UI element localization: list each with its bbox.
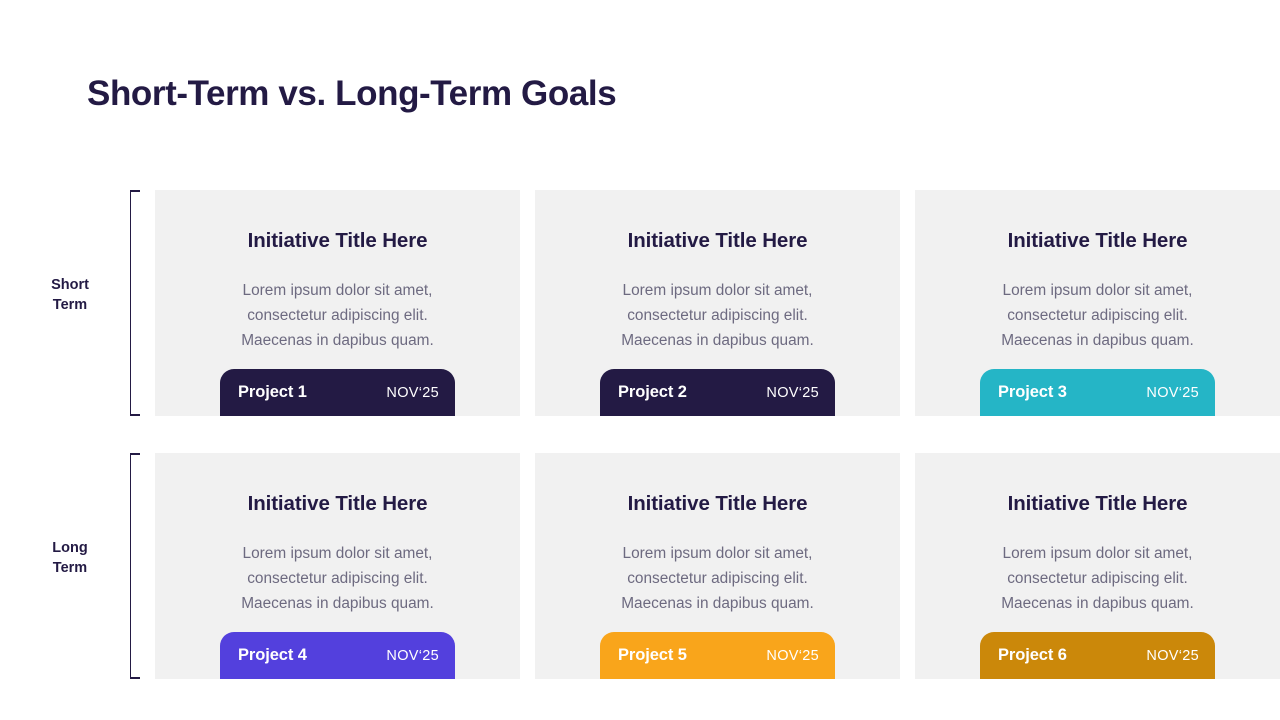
card-title: Initiative Title Here [535, 492, 900, 516]
card-body-line-3: Maecenas in dapibus quam. [181, 592, 494, 617]
row-label-short-term: Short Term [20, 275, 120, 315]
row-label-line-2: Term [20, 558, 120, 578]
card-group-long-term: Initiative Title Here Lorem ipsum dolor … [155, 453, 1280, 679]
card-body-line-3: Maecenas in dapibus quam. [561, 329, 874, 354]
row-label-line-1: Short [20, 275, 120, 295]
project-badge[interactable]: Project 4 NOV‘25 [220, 632, 455, 679]
card-body-line-3: Maecenas in dapibus quam. [561, 592, 874, 617]
project-badge[interactable]: Project 1 NOV‘25 [220, 369, 455, 416]
initiative-card[interactable]: Initiative Title Here Lorem ipsum dolor … [915, 453, 1280, 679]
card-body-line-1: Lorem ipsum dolor sit amet, [941, 279, 1254, 304]
project-badge-name: Project 5 [618, 646, 687, 665]
project-badge-date: NOV‘25 [386, 385, 439, 401]
card-title: Initiative Title Here [915, 492, 1280, 516]
card-body: Lorem ipsum dolor sit amet, consectetur … [941, 279, 1254, 353]
initiative-card[interactable]: Initiative Title Here Lorem ipsum dolor … [535, 453, 900, 679]
project-badge[interactable]: Project 2 NOV‘25 [600, 369, 835, 416]
card-body-line-2: consectetur adipiscing elit. [941, 567, 1254, 592]
project-badge-date: NOV‘25 [766, 385, 819, 401]
project-badge[interactable]: Project 3 NOV‘25 [980, 369, 1215, 416]
row-bracket-short-term [130, 190, 140, 416]
project-badge-name: Project 2 [618, 383, 687, 402]
card-body-line-1: Lorem ipsum dolor sit amet, [561, 279, 874, 304]
card-body-line-2: consectetur adipiscing elit. [181, 304, 494, 329]
card-group-short-term: Initiative Title Here Lorem ipsum dolor … [155, 190, 1280, 416]
card-body-line-1: Lorem ipsum dolor sit amet, [561, 542, 874, 567]
project-badge-name: Project 6 [998, 646, 1067, 665]
project-badge-date: NOV‘25 [1146, 648, 1199, 664]
row-bracket-long-term [130, 453, 140, 679]
initiative-card[interactable]: Initiative Title Here Lorem ipsum dolor … [915, 190, 1280, 416]
goal-row-short-term: Short Term Initiative Title Here Lorem i… [0, 190, 1280, 416]
initiative-card[interactable]: Initiative Title Here Lorem ipsum dolor … [535, 190, 900, 416]
row-label-line-2: Term [20, 295, 120, 315]
project-badge-name: Project 1 [238, 383, 307, 402]
card-body-line-2: consectetur adipiscing elit. [941, 304, 1254, 329]
card-title: Initiative Title Here [915, 229, 1280, 253]
card-body-line-3: Maecenas in dapibus quam. [941, 329, 1254, 354]
card-body: Lorem ipsum dolor sit amet, consectetur … [181, 542, 494, 616]
card-body-line-1: Lorem ipsum dolor sit amet, [181, 542, 494, 567]
card-body-line-2: consectetur adipiscing elit. [561, 304, 874, 329]
goal-row-long-term: Long Term Initiative Title Here Lorem ip… [0, 453, 1280, 679]
row-label-line-1: Long [20, 538, 120, 558]
project-badge-date: NOV‘25 [386, 648, 439, 664]
card-body: Lorem ipsum dolor sit amet, consectetur … [561, 279, 874, 353]
project-badge-date: NOV‘25 [766, 648, 819, 664]
card-body-line-2: consectetur adipiscing elit. [561, 567, 874, 592]
card-body-line-2: consectetur adipiscing elit. [181, 567, 494, 592]
project-badge[interactable]: Project 5 NOV‘25 [600, 632, 835, 679]
card-title: Initiative Title Here [155, 492, 520, 516]
slide-canvas: Short-Term vs. Long-Term Goals Short Ter… [0, 0, 1280, 720]
row-label-long-term: Long Term [20, 538, 120, 578]
card-title: Initiative Title Here [535, 229, 900, 253]
card-body-line-3: Maecenas in dapibus quam. [941, 592, 1254, 617]
card-body: Lorem ipsum dolor sit amet, consectetur … [561, 542, 874, 616]
page-title: Short-Term vs. Long-Term Goals [87, 74, 616, 114]
card-body: Lorem ipsum dolor sit amet, consectetur … [941, 542, 1254, 616]
project-badge-name: Project 3 [998, 383, 1067, 402]
card-body-line-1: Lorem ipsum dolor sit amet, [941, 542, 1254, 567]
card-body-line-3: Maecenas in dapibus quam. [181, 329, 494, 354]
card-title: Initiative Title Here [155, 229, 520, 253]
project-badge-name: Project 4 [238, 646, 307, 665]
project-badge-date: NOV‘25 [1146, 385, 1199, 401]
initiative-card[interactable]: Initiative Title Here Lorem ipsum dolor … [155, 453, 520, 679]
card-body: Lorem ipsum dolor sit amet, consectetur … [181, 279, 494, 353]
project-badge[interactable]: Project 6 NOV‘25 [980, 632, 1215, 679]
initiative-card[interactable]: Initiative Title Here Lorem ipsum dolor … [155, 190, 520, 416]
card-body-line-1: Lorem ipsum dolor sit amet, [181, 279, 494, 304]
